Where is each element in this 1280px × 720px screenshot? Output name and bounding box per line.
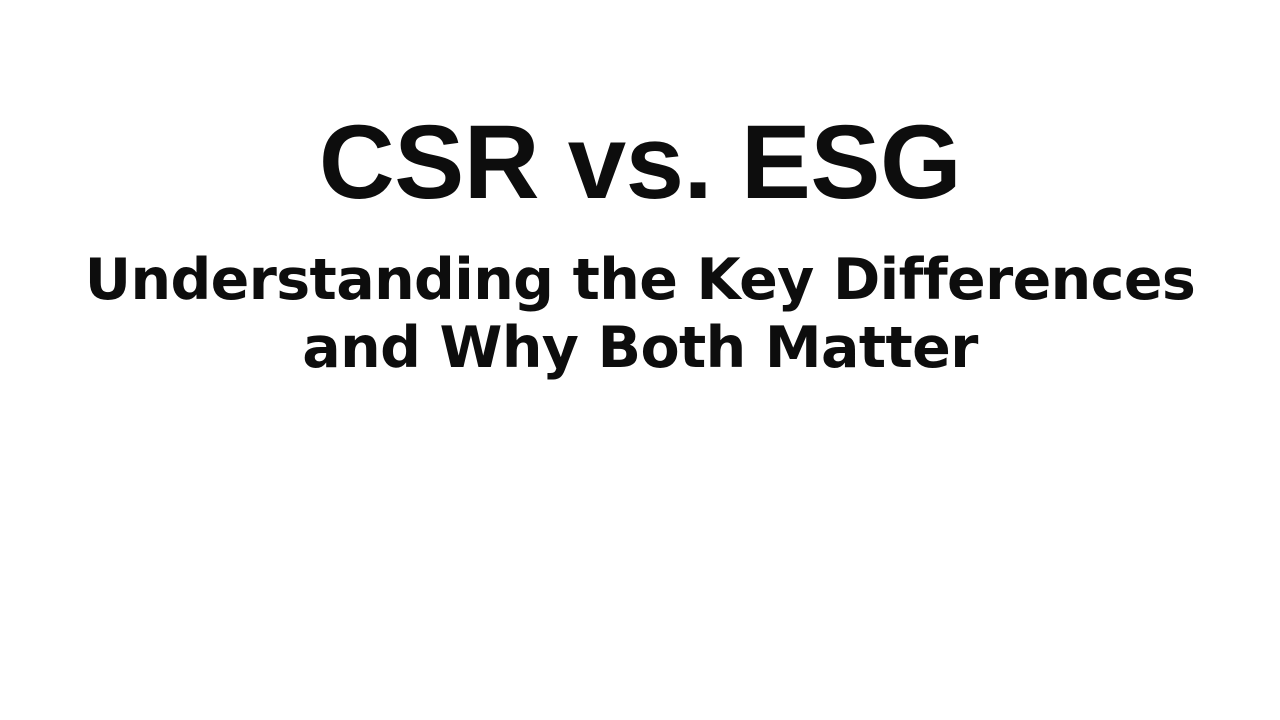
page-title: CSR vs. ESG bbox=[0, 104, 1280, 222]
subtitle-block: Understanding the Key Differences and Wh… bbox=[0, 246, 1280, 382]
title-block: CSR vs. ESG bbox=[0, 104, 1280, 222]
slide-subtitle: Understanding the Key Differences and Wh… bbox=[0, 246, 1280, 382]
slide-content-area bbox=[0, 410, 1280, 720]
subtitle-line-1: Understanding the Key Differences bbox=[0, 246, 1280, 314]
subtitle-line-2: and Why Both Matter bbox=[0, 314, 1280, 382]
title-slide: CSR vs. ESG Understanding the Key Differ… bbox=[0, 0, 1280, 720]
